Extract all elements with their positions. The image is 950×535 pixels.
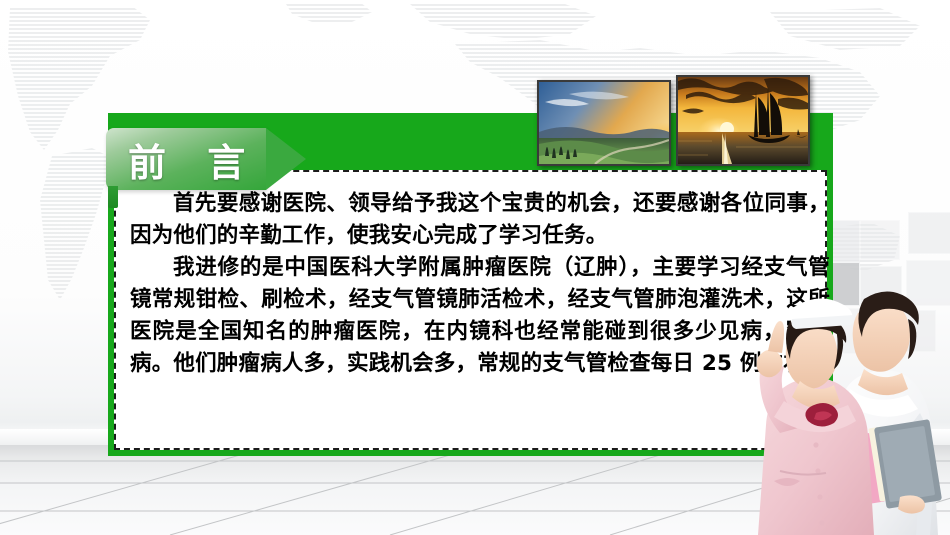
- content-frame-inner: 首先要感谢医院、领导给予我这个宝贵的机会，还要感谢各位同事，因为他们的辛勤工作，…: [114, 170, 827, 450]
- photo-countryside-sunset[interactable]: [537, 80, 671, 166]
- page-title: 前 言: [128, 128, 278, 190]
- presentation-slide: 首先要感谢医院、领导给予我这个宝贵的机会，还要感谢各位同事，因为他们的辛勤工作，…: [0, 0, 950, 535]
- paragraph-1: 首先要感谢医院、领导给予我这个宝贵的机会，还要感谢各位同事，因为他们的辛勤工作，…: [130, 188, 830, 252]
- ribbon-fold: [108, 186, 118, 208]
- photo-sailboat-sunset[interactable]: [676, 75, 810, 166]
- medical-staff-figures: [724, 285, 950, 535]
